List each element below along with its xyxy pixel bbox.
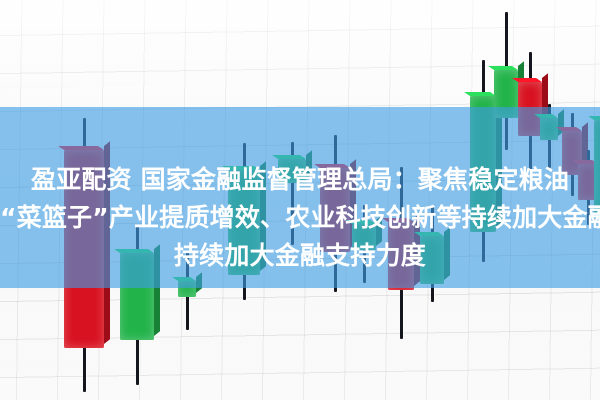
headline-line-3: 持续加大金融支持力度: [0, 237, 600, 275]
banner-image: 盈亚配资 国家金融监督管理总局：聚焦稳定粮油 “菜篮子”产业提质增效、农业科技创…: [0, 0, 600, 400]
headline-line-1: 盈亚配资 国家金融监督管理总局：聚焦稳定粮油: [0, 161, 600, 199]
headline-line-2: “菜篮子”产业提质增效、农业科技创新等持续加大金融: [0, 199, 600, 237]
